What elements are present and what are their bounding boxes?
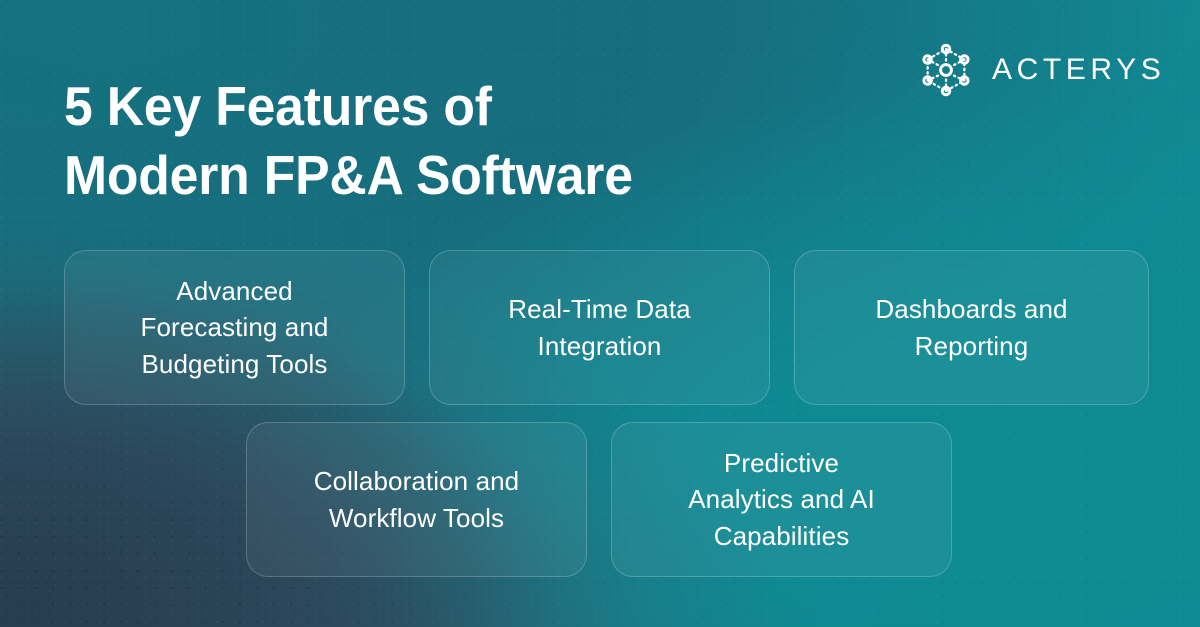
feature-card-label: Advanced Forecasting and Budgeting Tools [125,273,345,382]
infographic-poster: ACTERYS 5 Key Features of Modern FP&A So… [0,0,1200,627]
feature-card-label: Predictive Analytics and AI Capabilities [672,445,891,554]
feature-card-label: Dashboards and Reporting [859,291,1083,364]
feature-card-dashboards-and-reporting[interactable]: Dashboards and Reporting [794,250,1149,405]
feature-card-collaboration-and-workflow-tools[interactable]: Collaboration and Workflow Tools [246,422,587,577]
feature-card-predictive-analytics-and-ai-capabilities[interactable]: Predictive Analytics and AI Capabilities [611,422,952,577]
feature-card-advanced-forecasting-and-budgeting-tools[interactable]: Advanced Forecasting and Budgeting Tools [64,250,405,405]
feature-card-real-time-data-integration[interactable]: Real-Time Data Integration [429,250,770,405]
feature-card-label: Collaboration and Workflow Tools [298,463,536,536]
feature-card-grid: Advanced Forecasting and Budgeting Tools… [0,0,1200,627]
feature-card-label: Real-Time Data Integration [492,291,707,364]
